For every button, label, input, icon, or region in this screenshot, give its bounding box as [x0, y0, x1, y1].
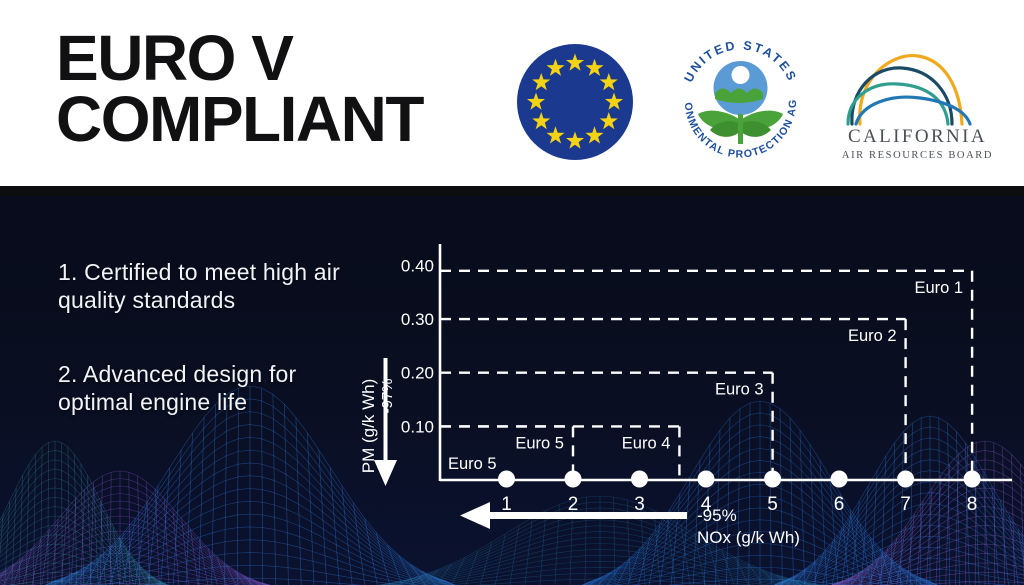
y-axis-tick-label: 0.40 [401, 257, 434, 276]
carb-logo: CALIFORNIA AIR RESOURCES BOARD [840, 38, 995, 168]
headline-line-2: COMPLIANT [56, 89, 486, 150]
euro-series-label: Euro 5 [515, 434, 564, 452]
x-axis-marker-dot [764, 471, 781, 488]
y-axis-tick-labels: 0.100.200.300.40 [401, 257, 434, 437]
x-axis-tick-label: 6 [834, 494, 845, 515]
carb-title: CALIFORNIA [840, 126, 995, 148]
eu-flag-logo [515, 42, 635, 162]
x-axis-tick-label: 7 [900, 494, 911, 515]
x-axis-tick-labels: 12345678 [501, 494, 977, 515]
list-item: 2. Advanced design for optimal engine li… [58, 360, 358, 416]
x-axis-marker-dot [964, 471, 981, 488]
euro-series-label: Euro 4 [622, 434, 671, 452]
carb-subtitle: AIR RESOURCES BOARD [840, 150, 995, 161]
x-axis-tick-label: 3 [634, 494, 645, 515]
x-axis-marker-dot [897, 471, 914, 488]
epa-logo: UNITED STATES ENVIRONMENTAL PROTECTION A… [668, 30, 813, 175]
x-axis-tick-label: 2 [568, 494, 579, 515]
origin-euro5-label: Euro 5 [448, 455, 497, 473]
list-item: 1. Certified to meet high air quality st… [58, 258, 358, 314]
certification-logos: UNITED STATES ENVIRONMENTAL PROTECTION A… [505, 22, 1005, 172]
euro-series-label: Euro 3 [715, 381, 764, 399]
infographic-canvas: EURO V COMPLIANT [0, 0, 1024, 585]
y-axis-label: PM (g/k Wh) [359, 379, 378, 473]
header-divider-rule [0, 186, 1024, 196]
y-axis-tick-label: 0.30 [401, 310, 434, 329]
nox-reduction-label: -95% [697, 506, 737, 525]
page-title: EURO V COMPLIANT [56, 28, 486, 150]
x-axis-marker-dot [498, 471, 515, 488]
x-axis-tick-label: 8 [967, 494, 978, 515]
carb-arcs-icon [840, 38, 995, 128]
x-axis-marker-dot [831, 471, 848, 488]
x-axis-marker-dot [631, 471, 648, 488]
x-axis-marker-dot [565, 471, 582, 488]
x-axis-tick-label: 5 [767, 494, 778, 515]
euro-series-label: Euro 2 [848, 327, 897, 345]
x-axis-label: NOx (g/k Wh) [697, 528, 800, 547]
feature-list: 1. Certified to meet high air quality st… [58, 258, 358, 416]
x-axis-marker-dot [698, 471, 715, 488]
x-axis-tick-label: 1 [501, 494, 512, 515]
y-axis-tick-label: 0.20 [401, 364, 434, 383]
y-axis-title-group: PM (g/k Wh) -97% [359, 358, 397, 486]
headline-line-1: EURO V [56, 28, 486, 89]
euro-series-label: Euro 1 [914, 279, 963, 297]
header-band: EURO V COMPLIANT [0, 0, 1024, 186]
y-axis-tick-label: 0.10 [401, 417, 434, 436]
emissions-step-chart: PM (g/k Wh) -97% 0.100.200.300.40 Euro 1… [352, 236, 1012, 566]
